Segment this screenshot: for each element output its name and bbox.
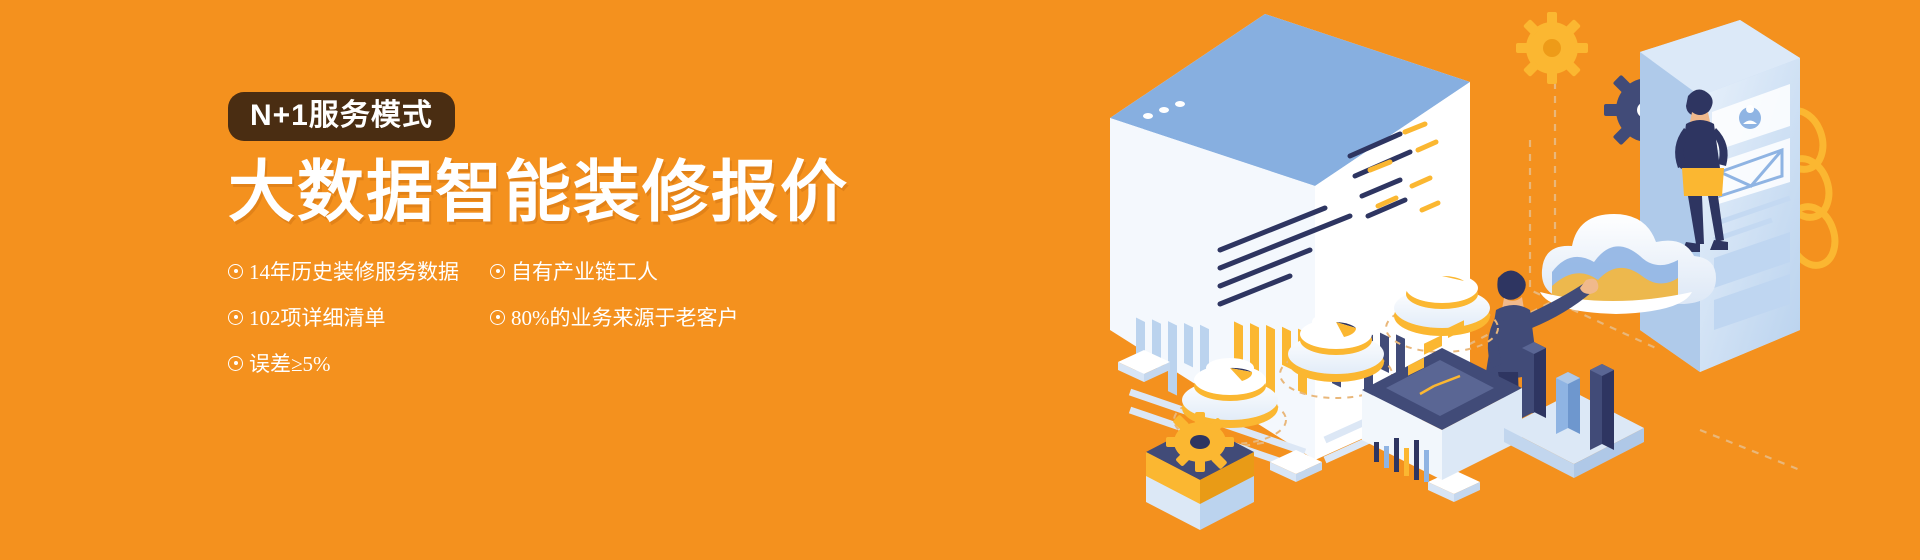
- circled-dot-icon: [490, 310, 505, 325]
- bullet-item: 80%的业务来源于老客户: [490, 302, 739, 332]
- bullet-row: 误差≥5%: [228, 348, 848, 378]
- bar-1: [1522, 342, 1546, 418]
- banner-text-block: N+1服务模式 大数据智能装修报价 14年历史装修服务数据 自有产业链工人 10…: [228, 92, 948, 394]
- bullet-row: 102项详细清单 80%的业务来源于老客户: [228, 302, 848, 332]
- service-model-badge: N+1服务模式: [228, 92, 455, 141]
- banner-headline: 大数据智能装修报价: [228, 155, 948, 230]
- circled-dot-icon: [228, 310, 243, 325]
- standing-bar-chart: [1504, 342, 1644, 478]
- bar-3: [1590, 364, 1614, 450]
- bullet-label: 自有产业链工人: [511, 256, 658, 286]
- circled-dot-icon: [490, 264, 505, 279]
- bullet-item: 误差≥5%: [228, 348, 490, 378]
- bullet-label: 14年历史装修服务数据: [249, 256, 459, 286]
- bullet-item: 102项详细清单: [228, 302, 490, 332]
- gear-yellow: [1516, 12, 1588, 84]
- bullet-label: 102项详细清单: [249, 302, 386, 332]
- circled-dot-icon: [228, 264, 243, 279]
- circled-dot-icon: [228, 356, 243, 371]
- bullet-item: 自有产业链工人: [490, 256, 658, 286]
- bar-2: [1556, 372, 1580, 434]
- bullet-label: 误差≥5%: [249, 348, 331, 378]
- promo-banner: N+1服务模式 大数据智能装修报价 14年历史装修服务数据 自有产业链工人 10…: [0, 0, 1920, 560]
- bullet-item: 14年历史装修服务数据: [228, 256, 490, 286]
- feature-bullet-list: 14年历史装修服务数据 自有产业链工人 102项详细清单 80%的业务来源于老客…: [228, 256, 848, 378]
- bullet-label: 80%的业务来源于老客户: [511, 302, 739, 332]
- isometric-illustration: [1100, 0, 1920, 560]
- bullet-row: 14年历史装修服务数据 自有产业链工人: [228, 256, 848, 286]
